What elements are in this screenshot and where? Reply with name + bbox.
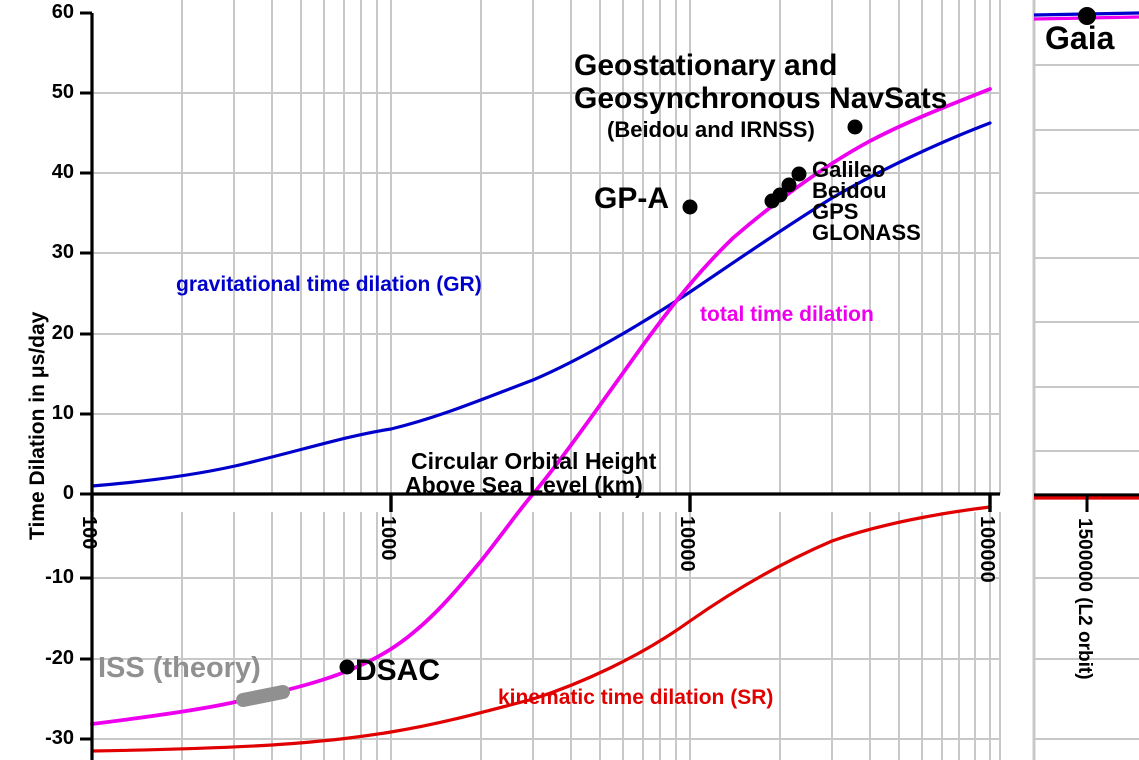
y-tick-label: 20	[14, 322, 74, 345]
marker-geo-navsat	[848, 120, 863, 135]
x-tick-label: 100000	[975, 516, 998, 583]
legend-label-gr: gravitational time dilation (GR)	[176, 273, 482, 297]
x-axis-title-line2: Above Sea Level (km)	[405, 472, 643, 499]
y-tick-label: 50	[14, 81, 74, 104]
axis-lines	[92, 13, 1000, 760]
chart-root: Time Dilation in μs/day	[0, 0, 1139, 760]
grid-horizontal-upper	[92, 93, 1000, 414]
y-tick-label: -20	[14, 647, 74, 670]
x-tick-label: 100	[77, 516, 100, 549]
label-glonass: GLONASS	[812, 220, 921, 246]
y-tick-marks	[80, 13, 92, 739]
y-tick-label: -10	[14, 566, 74, 589]
marker-iss-band	[243, 692, 283, 700]
x-tick-label: 10000	[675, 516, 698, 572]
legend-label-total: total time dilation	[700, 303, 874, 327]
x-axis-title-line1: Circular Orbital Height	[411, 448, 656, 475]
label-iss: ISS (theory)	[98, 652, 261, 685]
y-tick-label: 40	[14, 161, 74, 184]
y-tick-label: 30	[14, 241, 74, 264]
label-gp-a: GP-A	[594, 182, 669, 216]
x-tick-label: 1000	[376, 516, 399, 561]
label-geostationary-line1: Geostationary and	[574, 49, 837, 83]
y-tick-label: 10	[14, 402, 74, 425]
legend-label-sr: kinematic time dilation (SR)	[498, 686, 773, 710]
plot-canvas	[0, 0, 1139, 760]
marker-glonass	[765, 194, 780, 209]
label-geostationary-line3: (Beidou and IRNSS)	[607, 117, 815, 143]
y-tick-label: 0	[14, 482, 74, 505]
curve-kinematic-sr	[92, 507, 990, 751]
label-gaia: Gaia	[1045, 20, 1114, 57]
inset-x-tick-label: 1500000 (L2 orbit)	[1073, 518, 1095, 680]
marker-dsac	[340, 660, 355, 675]
y-tick-label: -30	[14, 727, 74, 750]
label-geostationary-line2: Geosynchronous NavSats	[574, 82, 947, 116]
label-dsac: DSAC	[355, 654, 440, 688]
y-tick-label: 60	[14, 1, 74, 24]
marker-gp-a	[683, 200, 698, 215]
